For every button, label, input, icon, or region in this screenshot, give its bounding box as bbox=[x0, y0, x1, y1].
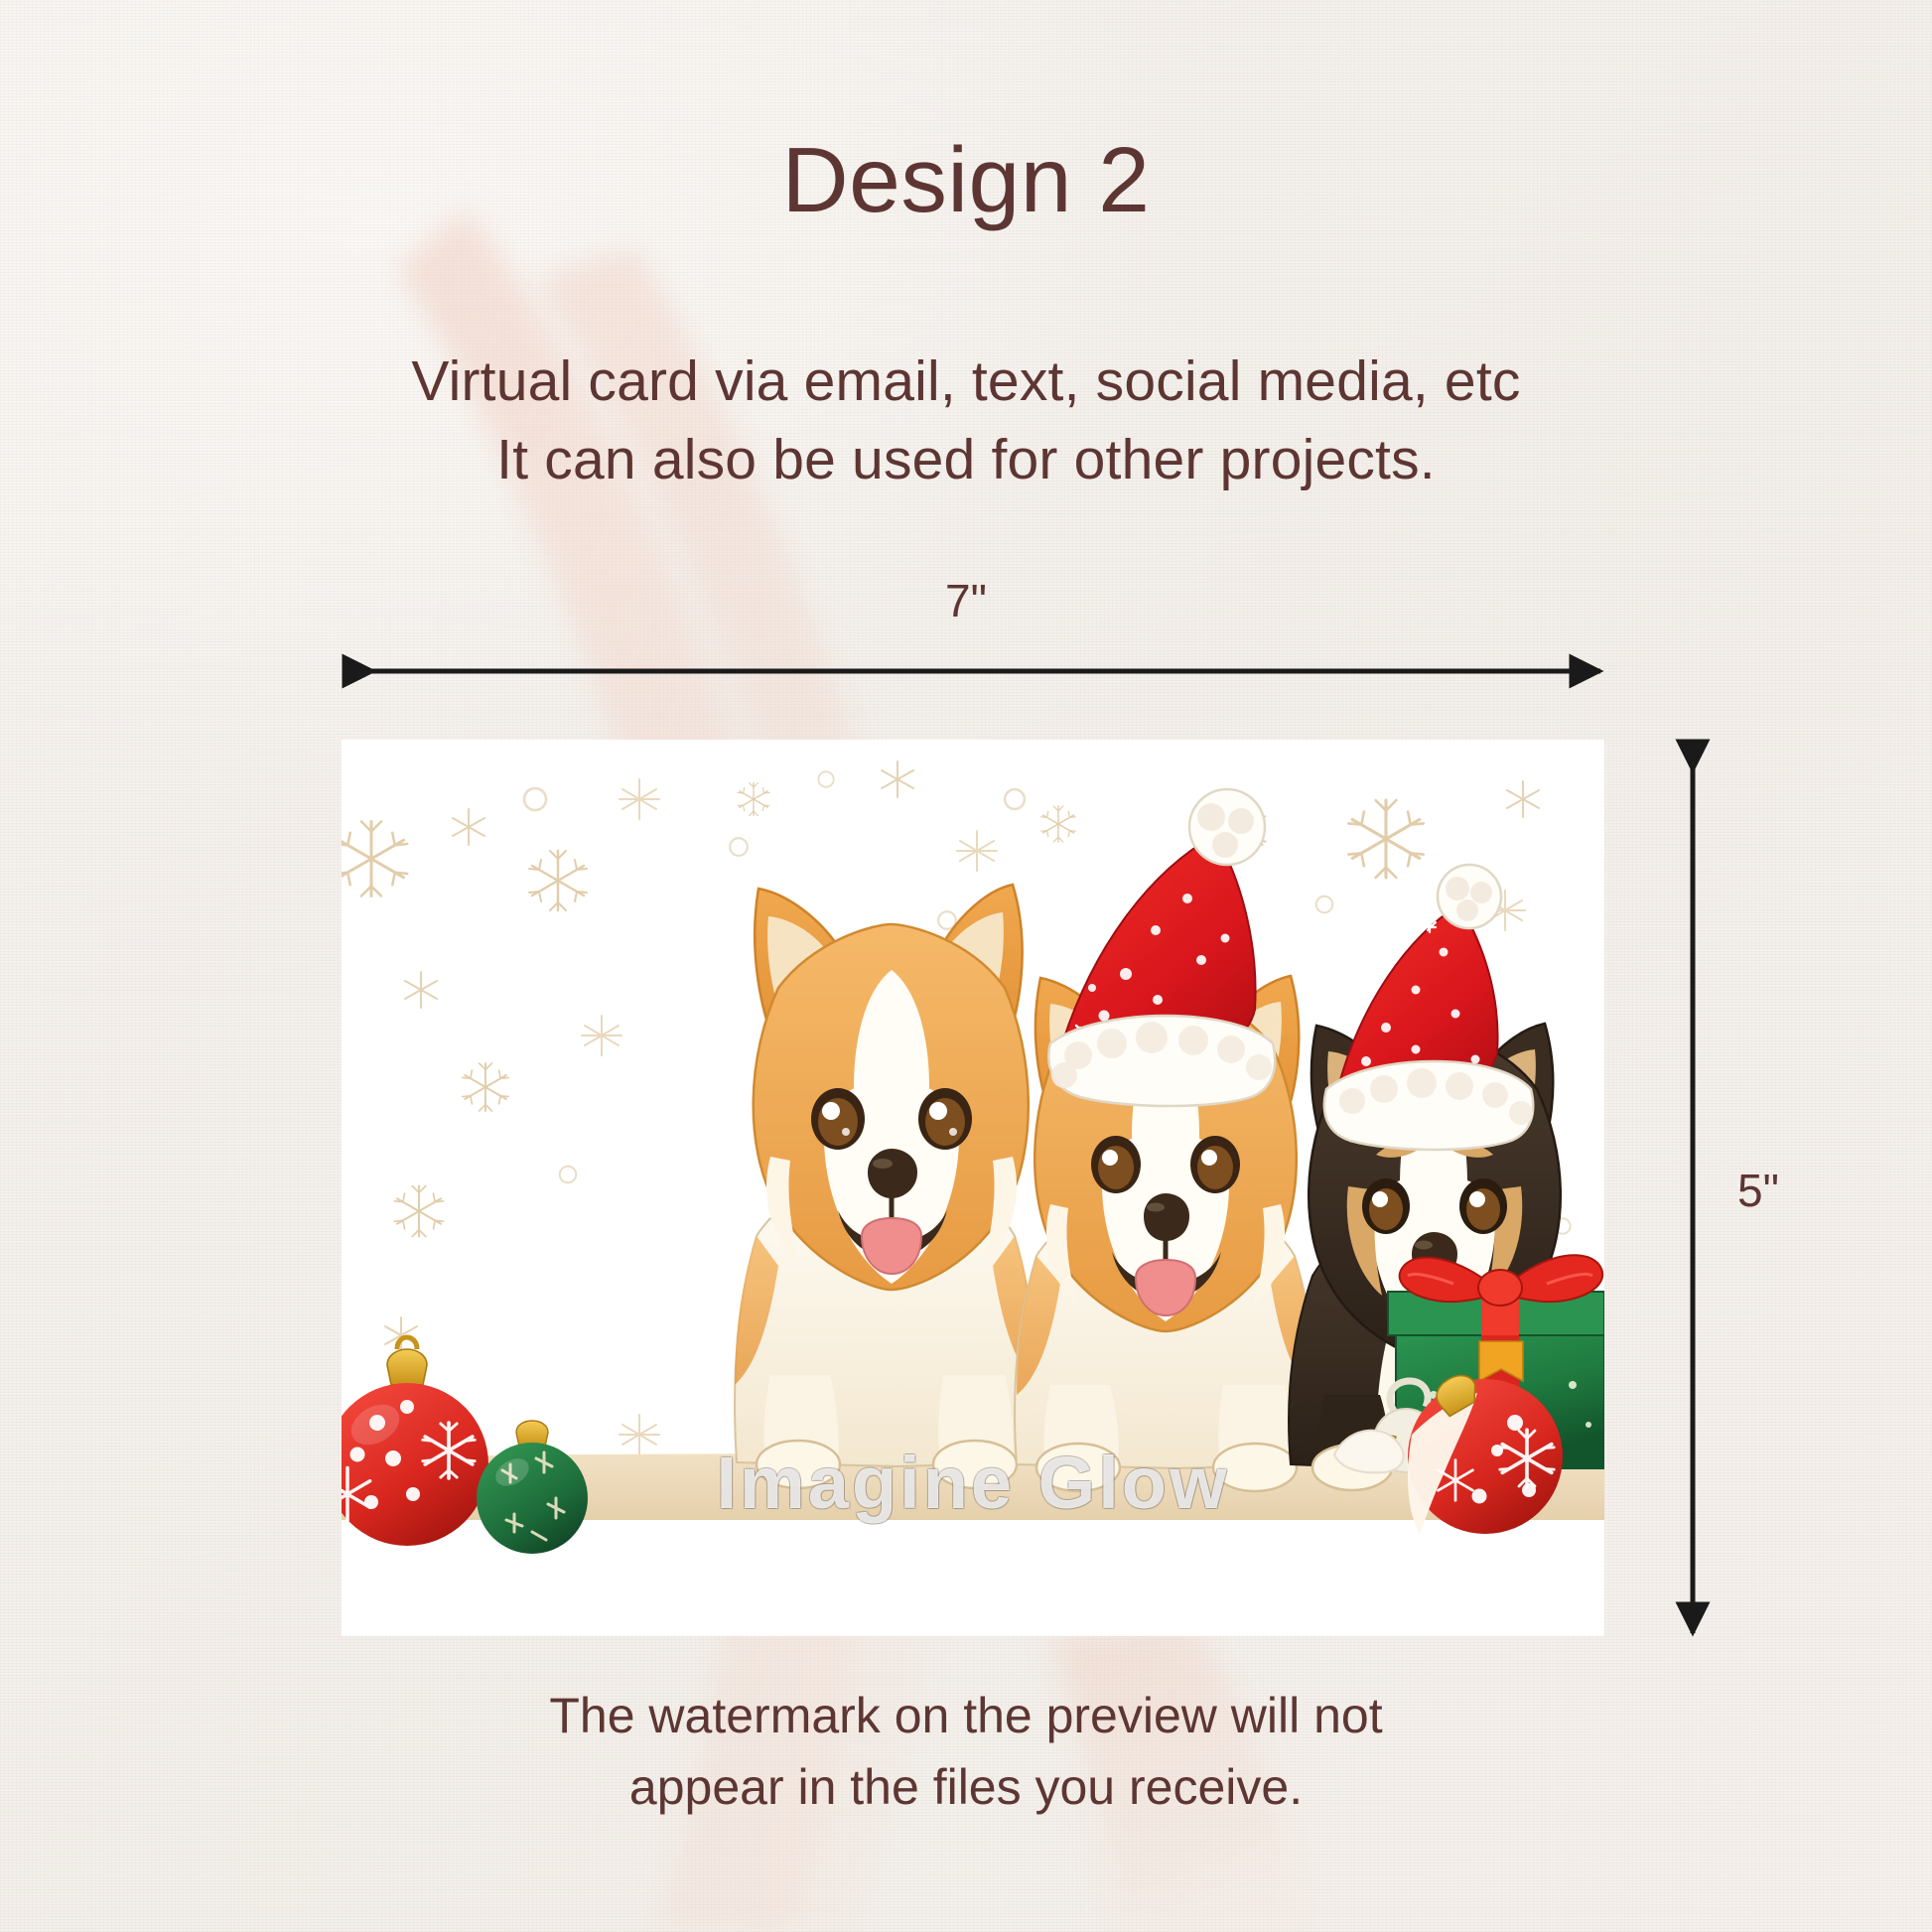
subtitle-line-2: It can also be used for other projects. bbox=[0, 421, 1932, 499]
footer-line-1: The watermark on the preview will not bbox=[0, 1680, 1932, 1751]
subtitle-block: Virtual card via email, text, social med… bbox=[0, 343, 1932, 498]
width-dimension-label: 7" bbox=[0, 574, 1932, 627]
footer-line-2: appear in the files you receive. bbox=[0, 1751, 1932, 1823]
christmas-dogs-illustration bbox=[342, 740, 1604, 1636]
page-title: Design 2 bbox=[0, 127, 1932, 233]
subtitle-line-1: Virtual card via email, text, social med… bbox=[0, 343, 1932, 421]
footer-note: The watermark on the preview will not ap… bbox=[0, 1680, 1932, 1823]
card-preview[interactable]: Imagine Glow bbox=[342, 740, 1604, 1636]
height-dimension-label: 5" bbox=[1737, 1164, 1779, 1217]
